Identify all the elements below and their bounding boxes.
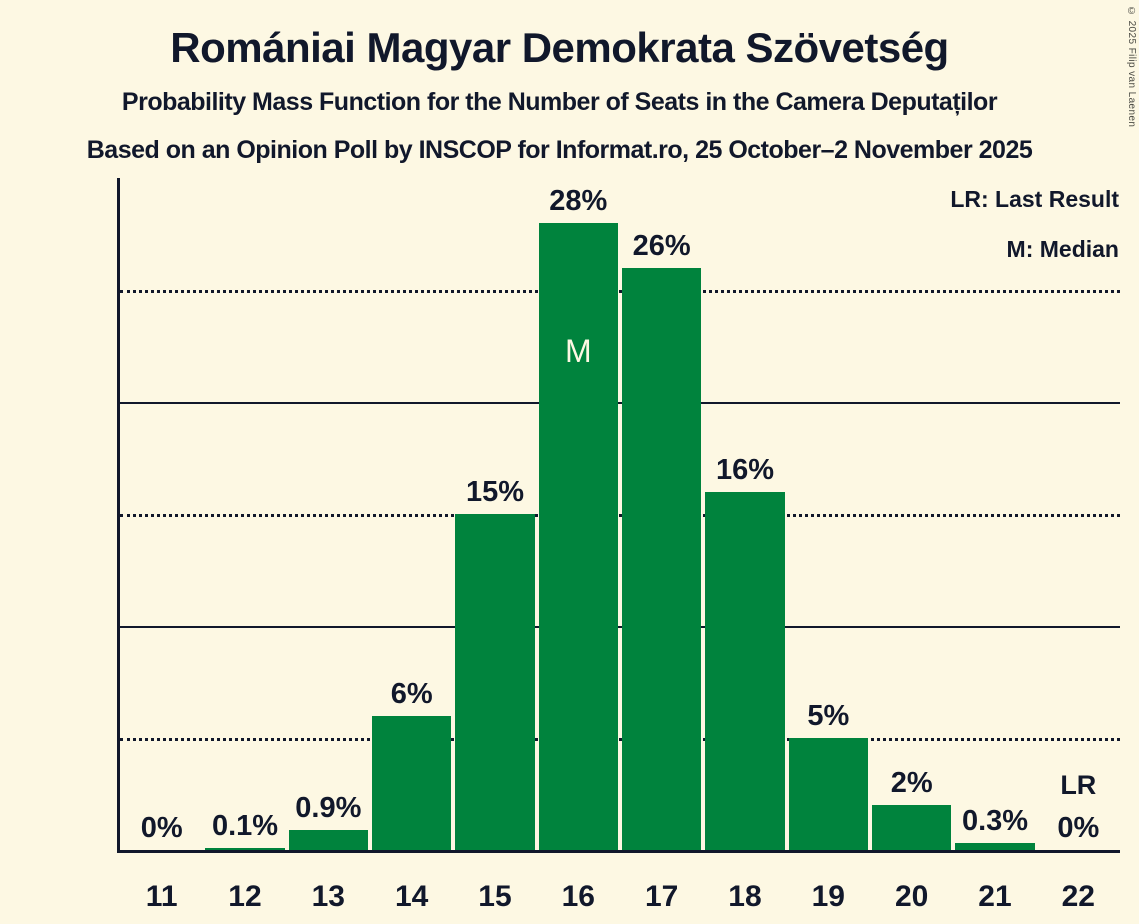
bar-value-label-15: 15% xyxy=(441,476,548,509)
bar-14[interactable] xyxy=(372,716,451,850)
page-title: Romániai Magyar Demokrata Szövetség xyxy=(0,22,1119,74)
bar-value-label-22: 0% xyxy=(1025,812,1132,845)
gridline-15 xyxy=(120,514,1120,517)
gridline-5 xyxy=(120,738,1120,741)
gridline-25 xyxy=(120,290,1120,293)
bar-value-label-17: 26% xyxy=(608,230,715,263)
bar-value-label-14: 6% xyxy=(358,678,465,711)
bar-value-label-18: 16% xyxy=(691,454,798,487)
bar-value-label-16: 28% xyxy=(525,185,632,218)
x-axis-label-20: 20 xyxy=(872,880,951,914)
gridline-10 xyxy=(120,626,1120,628)
bar-15[interactable] xyxy=(455,514,534,850)
last-result-marker: LR xyxy=(1039,770,1118,801)
bar-value-label-19: 5% xyxy=(775,700,882,733)
bar-18[interactable] xyxy=(705,492,784,850)
x-axis-label-11: 11 xyxy=(122,880,201,914)
x-axis-label-14: 14 xyxy=(372,880,451,914)
chart-source-note: Based on an Opinion Poll by INSCOP for I… xyxy=(0,134,1119,166)
x-axis-label-16: 16 xyxy=(539,880,618,914)
x-axis-label-18: 18 xyxy=(705,880,784,914)
x-axis-label-12: 12 xyxy=(205,880,284,914)
x-axis-label-15: 15 xyxy=(455,880,534,914)
plot-area: 10%20% 0%0.1%0.9%6%15%28%M26%16%5%2%0.3%… xyxy=(120,178,1120,850)
x-axis-label-17: 17 xyxy=(622,880,701,914)
bar-value-label-20: 2% xyxy=(858,767,965,800)
x-axis-label-19: 19 xyxy=(789,880,868,914)
gridline-20 xyxy=(120,402,1120,404)
copyright-notice: © 2025 Filip van Laenen xyxy=(1126,6,1137,127)
bar-12[interactable] xyxy=(205,848,284,850)
bar-19[interactable] xyxy=(789,738,868,850)
bar-21[interactable] xyxy=(955,843,1034,850)
bar-value-label-13: 0.9% xyxy=(275,792,382,825)
bar-13[interactable] xyxy=(289,830,368,850)
x-axis-line xyxy=(117,850,1120,853)
bar-17[interactable] xyxy=(622,268,701,850)
median-marker: M xyxy=(539,333,618,370)
x-axis-label-13: 13 xyxy=(289,880,368,914)
x-axis-label-21: 21 xyxy=(955,880,1034,914)
chart-page: Romániai Magyar Demokrata Szövetség Prob… xyxy=(0,0,1139,924)
x-axis-label-22: 22 xyxy=(1039,880,1118,914)
bar-20[interactable] xyxy=(872,805,951,850)
bar-16[interactable] xyxy=(539,223,618,850)
chart-subtitle: Probability Mass Function for the Number… xyxy=(0,86,1119,118)
